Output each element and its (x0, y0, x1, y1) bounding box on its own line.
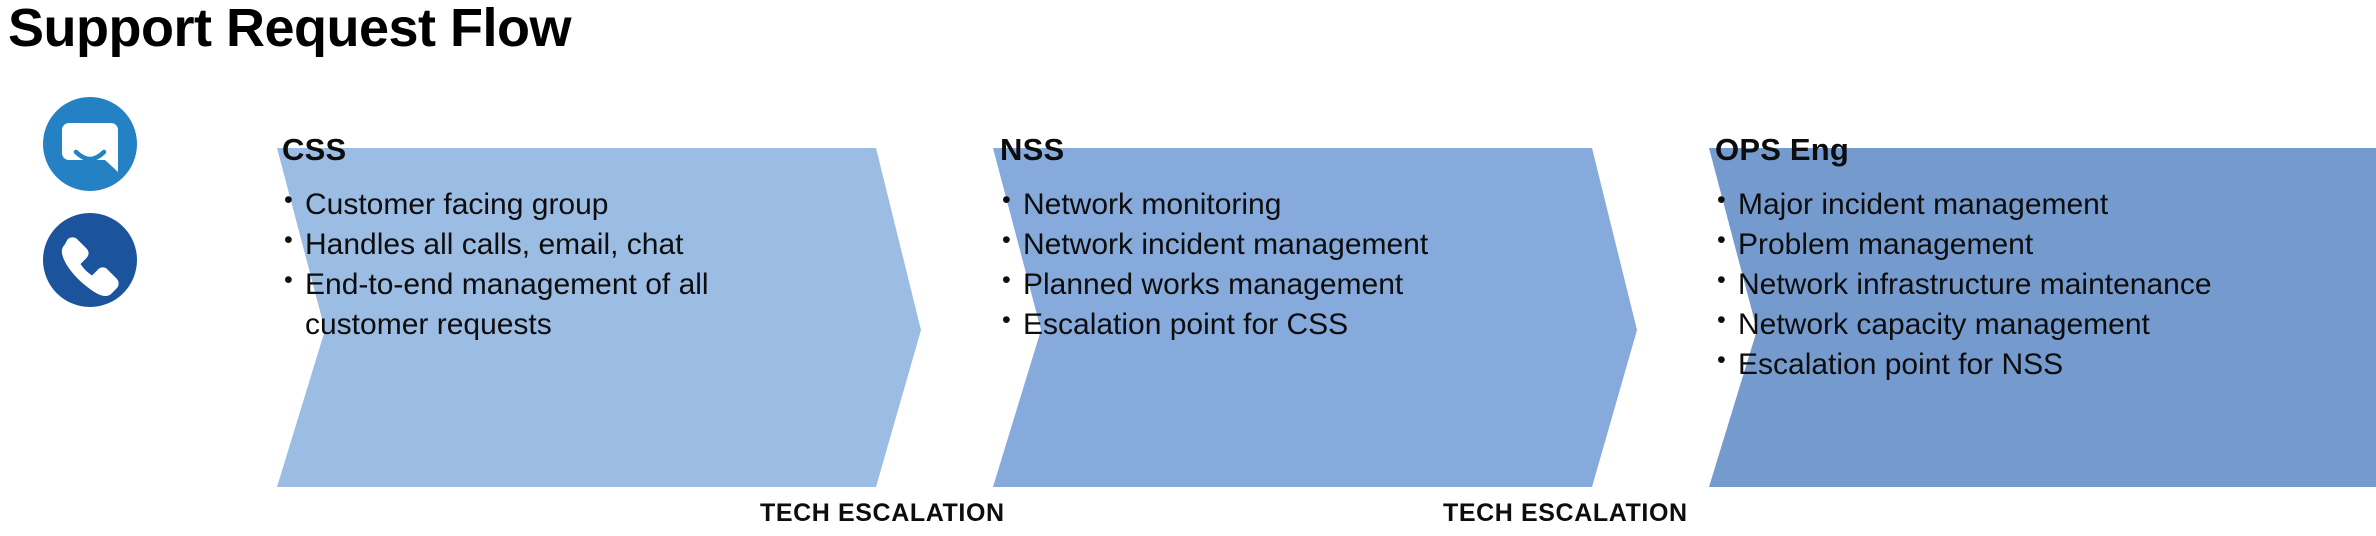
page-title: Support Request Flow (8, 0, 571, 61)
stage-title-ops: OPS Eng (1715, 133, 2355, 167)
list-item: Customer facing group (282, 185, 802, 225)
telephone-icon (43, 213, 137, 307)
stage-list-nss: Network monitoring Network incident mana… (1000, 185, 1560, 345)
escalation-label-1: TECH ESCALATION (760, 499, 1005, 528)
list-item: Major incident management (1715, 185, 2355, 225)
slide-canvas: Support Request Flow CSS Custom (0, 0, 2376, 536)
chat-bubble-icon (43, 97, 137, 191)
list-item: Escalation point for CSS (1000, 305, 1560, 345)
stage-title-css: CSS (282, 133, 802, 167)
stage-nss: NSS Network monitoring Network incident … (1000, 133, 1560, 345)
stage-css: CSS Customer facing group Handles all ca… (282, 133, 802, 345)
stage-list-css: Customer facing group Handles all calls,… (282, 185, 802, 345)
stage-ops: OPS Eng Major incident management Proble… (1715, 133, 2355, 385)
icon-column (43, 97, 163, 317)
list-item: Network capacity management (1715, 305, 2355, 345)
list-item: Network monitoring (1000, 185, 1560, 225)
stage-list-ops: Major incident management Problem manage… (1715, 185, 2355, 384)
list-item: Planned works management (1000, 265, 1560, 305)
list-item: Escalation point for NSS (1715, 345, 2355, 385)
stage-title-nss: NSS (1000, 133, 1560, 167)
list-item: Network infrastructure maintenance (1715, 265, 2355, 305)
list-item: Network incident management (1000, 225, 1560, 265)
list-item: Handles all calls, email, chat (282, 225, 802, 265)
list-item: Problem management (1715, 225, 2355, 265)
escalation-label-2: TECH ESCALATION (1443, 499, 1688, 528)
list-item: End-to-end management of all customer re… (282, 265, 802, 345)
